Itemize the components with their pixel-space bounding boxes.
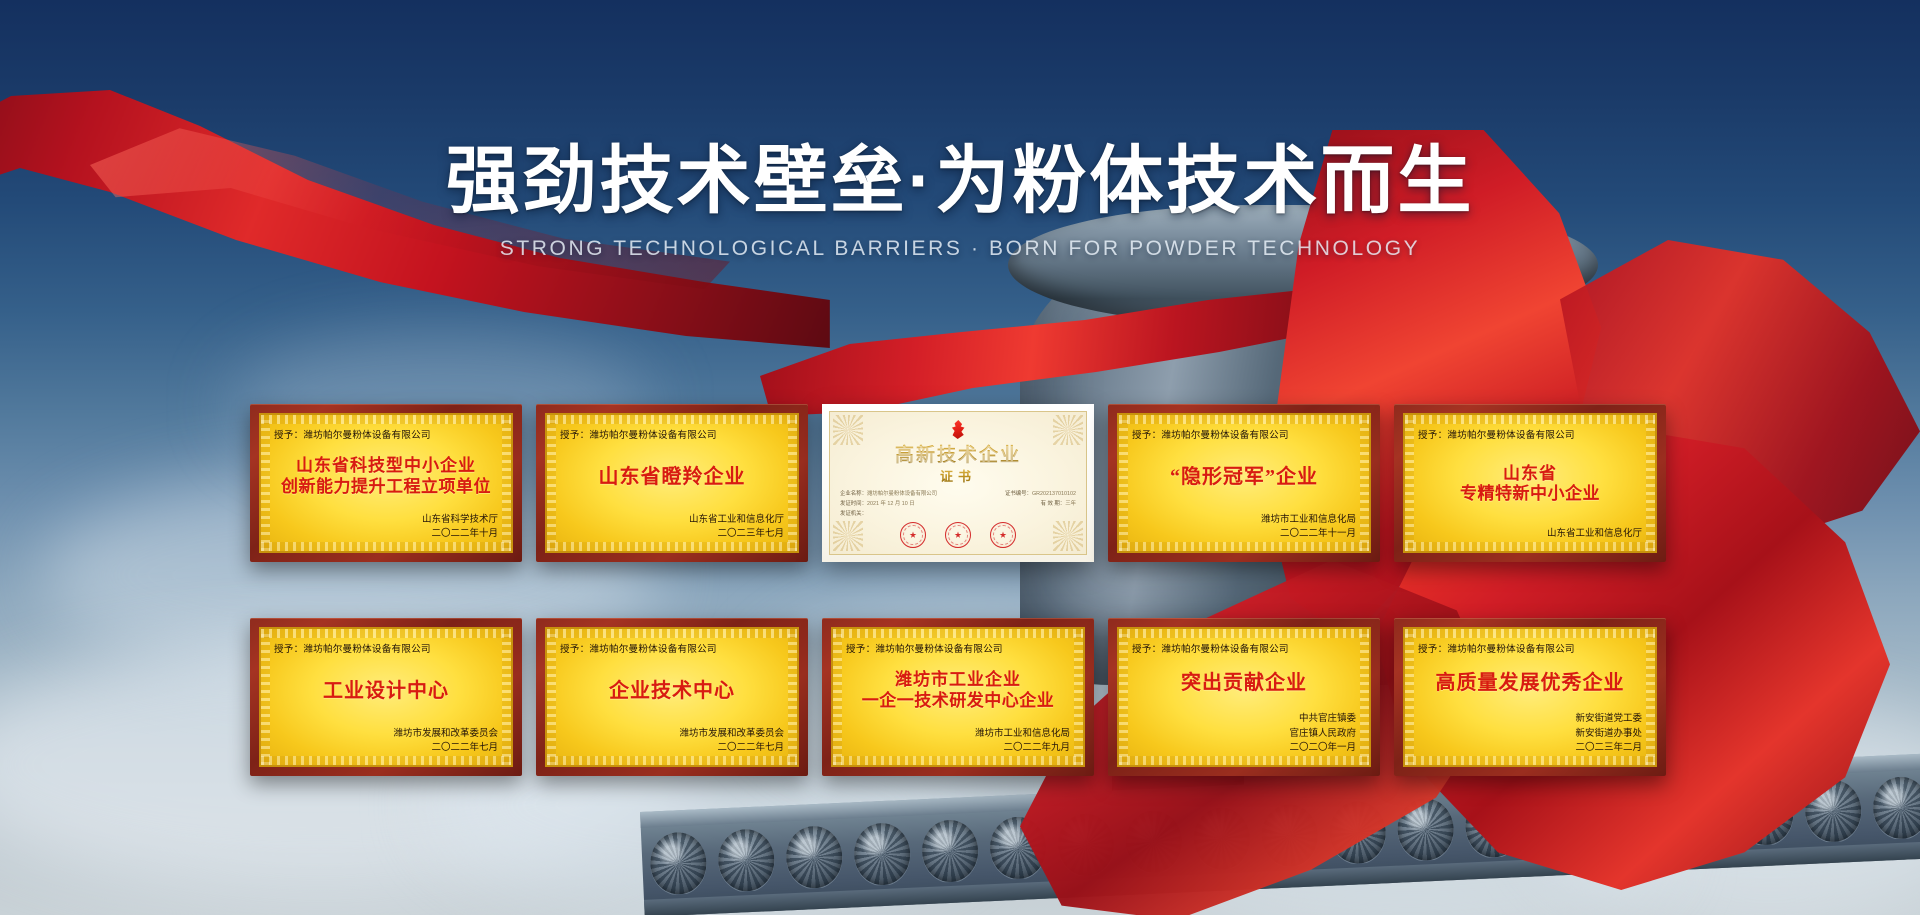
plaque-date: 二〇二〇年一月 <box>1132 741 1356 756</box>
plaque-title: “隐形冠军”企业 <box>1132 441 1356 513</box>
certificate-field-row: 发证机关： <box>840 509 1076 519</box>
plaque-awarded-to: 授予：潍坊帕尔曼粉体设备有限公司 <box>560 426 775 440</box>
plaque-title: 高质量发展优秀企业 <box>1418 655 1642 712</box>
plaque-title-line-1: 突出贡献企业 <box>1181 671 1307 695</box>
award-plaque[interactable]: 授予：潍坊帕尔曼粉体设备有限公司“隐形冠军”企业潍坊市工业和信息化局二〇二二年十… <box>1108 404 1380 562</box>
certificate-corner-ornament <box>1053 415 1083 445</box>
plaque-awarded-to: 授予：潍坊帕尔曼粉体设备有限公司 <box>1132 426 1347 440</box>
plaque-awarded-to: 授予：潍坊帕尔曼粉体设备有限公司 <box>1418 640 1633 654</box>
plaque-date: 二〇二三年七月 <box>560 527 784 542</box>
seal-ring <box>993 525 1013 545</box>
plaque-inner-panel: 授予：潍坊帕尔曼粉体设备有限公司山东省专精特新中小企业山东省工业和信息化厅 <box>1403 413 1657 553</box>
plaque-title-line-2: 创新能力提升工程立项单位 <box>281 477 491 497</box>
plaque-inner-panel: 授予：潍坊帕尔曼粉体设备有限公司山东省科技型中小企业创新能力提升工程立项单位山东… <box>259 413 513 553</box>
plaque-title-line-1: 高质量发展优秀企业 <box>1436 671 1625 695</box>
plaque-title: 潍坊市工业企业一企一技术研发中心企业 <box>846 655 1070 727</box>
award-plaque[interactable]: 授予：潍坊帕尔曼粉体设备有限公司山东省专精特新中小企业山东省工业和信息化厅 <box>1394 404 1666 562</box>
certificate-field: 企业名称：潍坊帕尔曼粉体设备有限公司 <box>840 489 937 499</box>
plaque-date: 二〇二三年二月 <box>1418 741 1642 756</box>
plaque-date: 二〇二二年九月 <box>846 741 1070 756</box>
certificate-title-sub: 证书 <box>940 466 976 485</box>
banner-stage: 强劲技术壁垒·为粉体技术而生 STRONG TECHNOLOGICAL BARR… <box>0 0 1920 915</box>
plaque-awarded-to: 授予：潍坊帕尔曼粉体设备有限公司 <box>274 426 489 440</box>
plaque-issuer: 山东省工业和信息化厅 <box>1418 527 1642 542</box>
plaque-date: 二〇二二年七月 <box>274 741 498 756</box>
plaque-issuer-block: 新安街道党工委新安街道办事处二〇二三年二月 <box>1418 712 1642 756</box>
plaque-awarded-to: 授予：潍坊帕尔曼粉体设备有限公司 <box>560 640 775 654</box>
plaque-issuer-block: 潍坊市发展和改革委员会二〇二二年七月 <box>560 727 784 756</box>
certificate-field-key: 企业名称： <box>840 491 867 497</box>
plaque-title-line-2: 一企一技术研发中心企业 <box>862 691 1055 711</box>
plaque-title-line-1: “隐形冠军”企业 <box>1170 465 1318 489</box>
plaque-date: 二〇二二年七月 <box>560 741 784 756</box>
plaque-issuer-block: 潍坊市工业和信息化局二〇二二年十一月 <box>1132 513 1356 542</box>
frieze-medallion <box>1532 791 1591 855</box>
plaque-title: 山东省瞪羚企业 <box>560 441 784 513</box>
award-plaque[interactable]: 授予：潍坊帕尔曼粉体设备有限公司潍坊市工业企业一企一技术研发中心企业潍坊市工业和… <box>822 618 1094 776</box>
plaque-issuer: 潍坊市发展和改革委员会 <box>560 727 784 742</box>
plaque-awarded-to: 授予：潍坊帕尔曼粉体设备有限公司 <box>1418 426 1633 440</box>
certificate-row-bottom: 授予：潍坊帕尔曼粉体设备有限公司工业设计中心潍坊市发展和改革委员会二〇二二年七月… <box>250 618 1690 776</box>
frieze-medallion <box>1464 794 1523 858</box>
certificate-field: 有 效 期：三年 <box>1041 499 1076 509</box>
seal-ring <box>903 525 923 545</box>
plaque-date: 二〇二二年十月 <box>274 527 498 542</box>
medallion-frieze <box>641 774 1920 896</box>
plaque-date: 二〇二二年十一月 <box>1132 527 1356 542</box>
high-tech-enterprise-certificate[interactable]: 高新技术企业证书企业名称：潍坊帕尔曼粉体设备有限公司证书编号：GR2021370… <box>822 404 1094 562</box>
frieze-medallion <box>1600 788 1659 852</box>
certificate-corner-ornament <box>833 415 863 445</box>
plaque-title-line-1: 工业设计中心 <box>323 679 449 703</box>
award-plaque[interactable]: 授予：潍坊帕尔曼粉体设备有限公司突出贡献企业中共官庄镇委官庄镇人民政府二〇二〇年… <box>1108 618 1380 776</box>
frieze-medallion <box>1192 806 1251 870</box>
certificate-row-top: 授予：潍坊帕尔曼粉体设备有限公司山东省科技型中小企业创新能力提升工程立项单位山东… <box>250 404 1690 562</box>
plaque-title-line-1: 山东省 <box>1503 464 1557 484</box>
plaque-inner-panel: 授予：潍坊帕尔曼粉体设备有限公司山东省瞪羚企业山东省工业和信息化厅二〇二三年七月 <box>545 413 799 553</box>
plaque-awarded-to: 授予：潍坊帕尔曼粉体设备有限公司 <box>274 640 489 654</box>
plaque-awarded-to: 授予：潍坊帕尔曼粉体设备有限公司 <box>1132 640 1347 654</box>
seal-icon <box>990 522 1016 548</box>
plaque-title: 工业设计中心 <box>274 655 498 727</box>
award-plaque[interactable]: 授予：潍坊帕尔曼粉体设备有限公司工业设计中心潍坊市发展和改革委员会二〇二二年七月 <box>250 618 522 776</box>
plaque-title-line-1: 企业技术中心 <box>609 679 735 703</box>
plaque-issuer-block: 山东省工业和信息化厅 <box>1418 527 1642 542</box>
certificate-field-key: 有 效 期： <box>1041 501 1066 507</box>
platform-bottom-edge <box>644 840 1920 915</box>
seal-ring <box>948 525 968 545</box>
certificate-field-value: GR202137010102 <box>1032 491 1076 497</box>
award-plaque[interactable]: 授予：潍坊帕尔曼粉体设备有限公司高质量发展优秀企业新安街道党工委新安街道办事处二… <box>1394 618 1666 776</box>
plaque-issuer: 潍坊市工业和信息化局 <box>1132 513 1356 528</box>
certificate-field-row: 发证时间：2021 年 12 月 10 日有 效 期：三年 <box>840 499 1076 509</box>
frieze-medallion <box>1668 785 1727 849</box>
plaque-issuer-block: 中共官庄镇委官庄镇人民政府二〇二〇年一月 <box>1132 712 1356 756</box>
certificate-fields: 企业名称：潍坊帕尔曼粉体设备有限公司证书编号：GR202137010102发证时… <box>840 489 1076 519</box>
award-plaque[interactable]: 授予：潍坊帕尔曼粉体设备有限公司山东省瞪羚企业山东省工业和信息化厅二〇二三年七月 <box>536 404 808 562</box>
plaque-issuer-block: 山东省科学技术厅二〇二二年十月 <box>274 513 498 542</box>
plaque-issuer-line-2: 新安街道办事处 <box>1418 727 1642 742</box>
plaque-title-line-1: 潍坊市工业企业 <box>895 670 1021 690</box>
frieze-medallion <box>1057 813 1116 877</box>
certificate-field-value: 2021 年 12 月 10 日 <box>867 501 915 507</box>
frieze-medallion <box>921 819 980 883</box>
frieze-medallion <box>717 828 776 892</box>
certificate-title-main: 高新技术企业 <box>895 440 1021 467</box>
frieze-medallion <box>1328 800 1387 864</box>
seal-icon <box>945 522 971 548</box>
plaque-title: 企业技术中心 <box>560 655 784 727</box>
frieze-medallion <box>1260 803 1319 867</box>
certificate-field-row: 企业名称：潍坊帕尔曼粉体设备有限公司证书编号：GR202137010102 <box>840 489 1076 499</box>
plaque-issuer-line-1: 新安街道党工委 <box>1418 712 1642 727</box>
certificate-field: 发证时间：2021 年 12 月 10 日 <box>840 499 915 509</box>
page-title: 强劲技术壁垒·为粉体技术而生 <box>0 0 1920 223</box>
certificate-field-key: 证书编号： <box>1005 491 1032 497</box>
seal-icon <box>900 522 926 548</box>
plaque-inner-panel: 授予：潍坊帕尔曼粉体设备有限公司“隐形冠军”企业潍坊市工业和信息化局二〇二二年十… <box>1117 413 1371 553</box>
frieze-medallion <box>1804 779 1863 843</box>
plaque-issuer: 山东省科学技术厅 <box>274 513 498 528</box>
page-subtitle: STRONG TECHNOLOGICAL BARRIERS · BORN FOR… <box>0 237 1920 261</box>
flame-icon <box>950 420 967 439</box>
award-plaque[interactable]: 授予：潍坊帕尔曼粉体设备有限公司山东省科技型中小企业创新能力提升工程立项单位山东… <box>250 404 522 562</box>
frieze-medallion <box>1736 782 1795 846</box>
certificate-field-key: 发证机关： <box>840 511 867 517</box>
plaque-inner-panel: 授予：潍坊帕尔曼粉体设备有限公司工业设计中心潍坊市发展和改革委员会二〇二二年七月 <box>259 627 513 767</box>
certificate-frame: 高新技术企业证书企业名称：潍坊帕尔曼粉体设备有限公司证书编号：GR2021370… <box>829 411 1087 555</box>
plaque-title-line-1: 山东省瞪羚企业 <box>599 465 746 489</box>
frieze-medallion <box>785 825 844 889</box>
frieze-medallion <box>649 831 708 895</box>
certificate-corner-ornament <box>1053 521 1083 551</box>
plaque-issuer-block: 潍坊市工业和信息化局二〇二二年九月 <box>846 727 1070 756</box>
plaque-issuer-block: 潍坊市发展和改革委员会二〇二二年七月 <box>274 727 498 756</box>
plaque-title: 突出贡献企业 <box>1132 655 1356 712</box>
plaque-inner-panel: 授予：潍坊帕尔曼粉体设备有限公司突出贡献企业中共官庄镇委官庄镇人民政府二〇二〇年… <box>1117 627 1371 767</box>
certificate-field: 发证机关： <box>840 509 867 519</box>
plaque-title-line-1: 山东省科技型中小企业 <box>296 456 476 476</box>
plaque-inner-panel: 授予：潍坊帕尔曼粉体设备有限公司潍坊市工业企业一企一技术研发中心企业潍坊市工业和… <box>831 627 1085 767</box>
plaque-title-line-2: 专精特新中小企业 <box>1460 484 1600 504</box>
plaque-issuer: 山东省工业和信息化厅 <box>560 513 784 528</box>
certificate-seal-group <box>900 522 1016 548</box>
plaque-issuer-line-1: 中共官庄镇委 <box>1132 712 1356 727</box>
plaque-issuer-line-2: 官庄镇人民政府 <box>1132 727 1356 742</box>
frieze-medallion <box>1124 809 1183 873</box>
certificate-field-key: 发证时间： <box>840 501 867 507</box>
plaque-issuer: 潍坊市发展和改革委员会 <box>274 727 498 742</box>
plaque-issuer: 潍坊市工业和信息化局 <box>846 727 1070 742</box>
frieze-medallion <box>989 816 1048 880</box>
plaque-inner-panel: 授予：潍坊帕尔曼粉体设备有限公司高质量发展优秀企业新安街道党工委新安街道办事处二… <box>1403 627 1657 767</box>
plaque-awarded-to: 授予：潍坊帕尔曼粉体设备有限公司 <box>846 640 1061 654</box>
award-plaque[interactable]: 授予：潍坊帕尔曼粉体设备有限公司企业技术中心潍坊市发展和改革委员会二〇二二年七月 <box>536 618 808 776</box>
frieze-medallion <box>853 822 912 886</box>
certificate-field: 证书编号：GR202137010102 <box>1005 489 1076 499</box>
plaque-title: 山东省科技型中小企业创新能力提升工程立项单位 <box>274 441 498 513</box>
certificate-field-value: 潍坊帕尔曼粉体设备有限公司 <box>867 491 937 497</box>
frieze-medallion <box>1396 797 1455 861</box>
stone-platform <box>640 752 1920 915</box>
headline-block: 强劲技术壁垒·为粉体技术而生 STRONG TECHNOLOGICAL BARR… <box>0 0 1920 261</box>
plaque-issuer-block: 山东省工业和信息化厅二〇二三年七月 <box>560 513 784 542</box>
plaque-title: 山东省专精特新中小企业 <box>1418 441 1642 527</box>
certificate-corner-ornament <box>833 521 863 551</box>
plaque-inner-panel: 授予：潍坊帕尔曼粉体设备有限公司企业技术中心潍坊市发展和改革委员会二〇二二年七月 <box>545 627 799 767</box>
frieze-medallion <box>1872 776 1920 840</box>
certificate-field-value: 三年 <box>1065 501 1076 507</box>
